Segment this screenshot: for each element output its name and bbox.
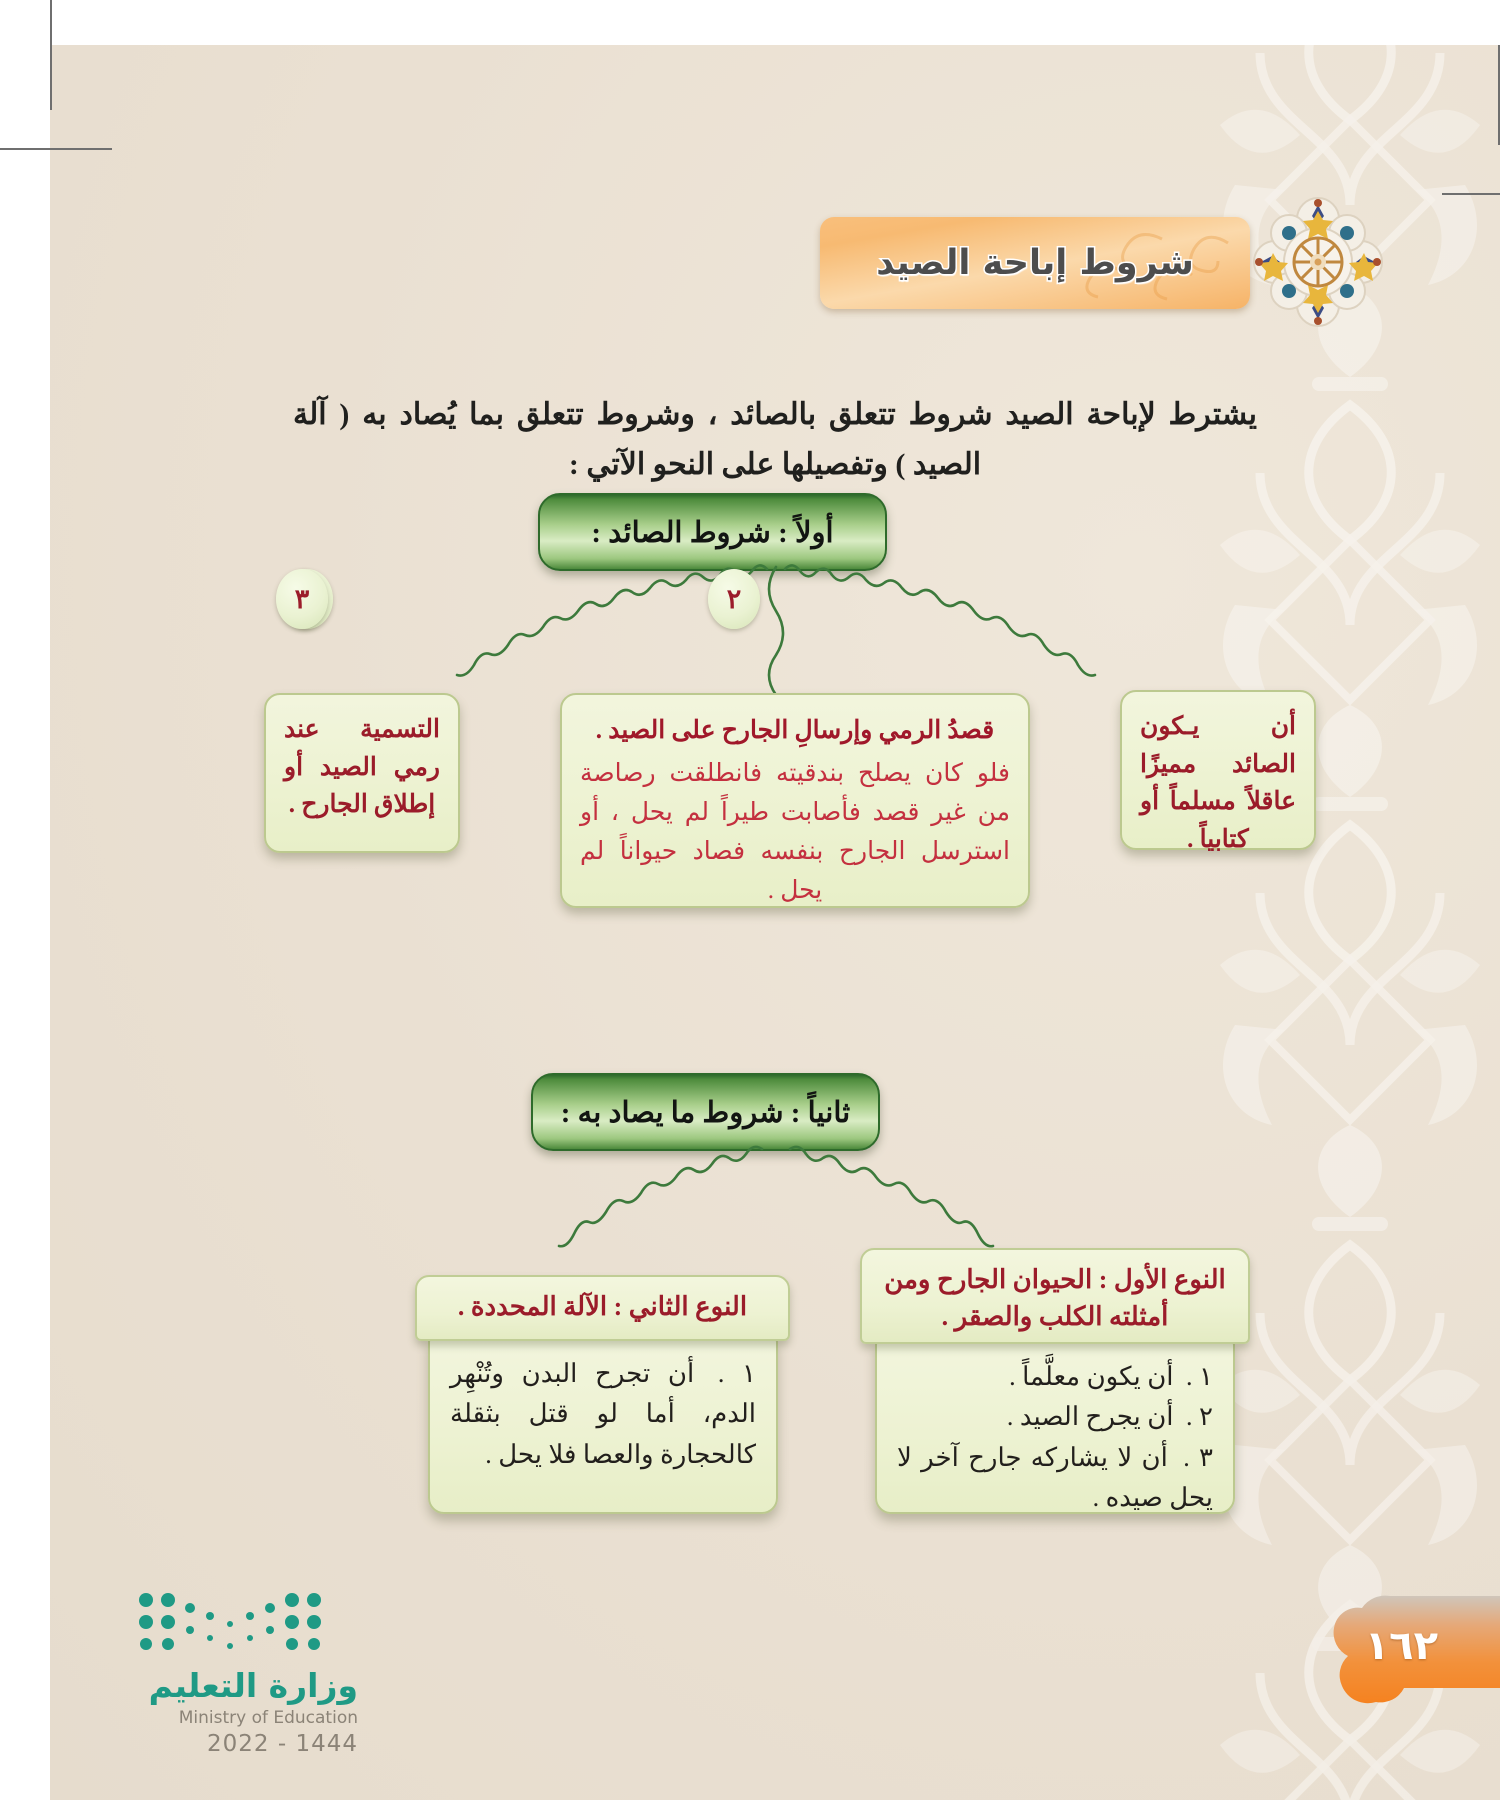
condition-card-3: التسمية عند رمي الصيد أو إطلاق الجارح . xyxy=(264,693,460,853)
ministry-years: 2022 - 1444 xyxy=(98,1731,358,1757)
ornament-medallion-icon xyxy=(1253,197,1383,327)
list-item-text: أن يكون معلَّماً . xyxy=(1009,1362,1173,1391)
page-title: شروط إباحة الصيد xyxy=(876,243,1194,283)
list-item-text: أن تجرح البدن وتُنْهِر الدم، أما لو قتل … xyxy=(450,1359,756,1469)
condition-card-1: أن يـكون الصائد مميزًا عاقلاً مسلماً أو … xyxy=(1120,690,1316,850)
list-item: ٣ . أن لا يشاركه جارح آخر لا يحل صيده . xyxy=(897,1438,1213,1519)
condition-card-2-body: فلو كان يصلح بندقيته فانطلقت رصاصة من غي… xyxy=(580,754,1010,910)
list-item-text: أن يجرح الصيد . xyxy=(1007,1402,1174,1431)
ministry-name-en: Ministry of Education xyxy=(98,1708,358,1728)
list-item: ١ . أن يكون معلَّماً . xyxy=(897,1357,1213,1397)
type-two-list: ١ . أن تجرح البدن وتُنْهِر الدم، أما لو … xyxy=(428,1336,778,1514)
item-number-badge-2: ٢ xyxy=(708,569,760,629)
condition-card-2-lead: قصدُ الرمي وإرسالِ الجارح على الصيد . xyxy=(580,711,1010,750)
section-one-heading: أولاً : شروط الصائد : xyxy=(538,493,887,571)
list-item-number: ١ . xyxy=(1186,1362,1213,1391)
list-item: ٢ . أن يجرح الصيد . xyxy=(897,1397,1213,1437)
crop-mark xyxy=(1442,193,1500,195)
page-number: ١٦٢ xyxy=(1365,1623,1438,1669)
section-title-banner: شروط إباحة الصيد xyxy=(820,217,1250,309)
ministry-name-ar: وزارة التعليم xyxy=(98,1666,358,1705)
list-item-number: ١ . xyxy=(718,1359,756,1388)
type-two-heading: النوع الثاني : الآلة المحددة . xyxy=(415,1275,790,1341)
list-item-text: أن لا يشاركه جارح آخر لا يحل صيده . xyxy=(897,1443,1213,1512)
crop-mark xyxy=(50,0,52,110)
page-canvas: شروط إباحة الصيد xyxy=(50,45,1500,1800)
type-one-heading: النوع الأول : الحيوان الجارح ومن أمثلته … xyxy=(860,1248,1250,1344)
item-number-badge-3: ٣ xyxy=(276,569,328,629)
list-item-number: ٢ . xyxy=(1186,1402,1213,1431)
condition-card-2: قصدُ الرمي وإرسالِ الجارح على الصيد . فل… xyxy=(560,693,1030,908)
section-two-heading: ثانياً : شروط ما يصاد به : xyxy=(531,1073,880,1151)
intro-paragraph: يشترط لإباحة الصيد شروط تتعلق بالصائد ، … xyxy=(293,390,1257,489)
crop-mark xyxy=(0,148,112,150)
list-item-number: ٣ . xyxy=(1183,1443,1213,1472)
ministry-logo: وزارة التعليم Ministry of Education 2022… xyxy=(98,1590,358,1757)
type-one-list: ١ . أن يكون معلَّماً . ٢ . أن يجرح الصيد… xyxy=(875,1339,1235,1514)
moe-dot-pattern-icon xyxy=(134,1590,334,1662)
list-item: ١ . أن تجرح البدن وتُنْهِر الدم، أما لو … xyxy=(450,1354,756,1475)
